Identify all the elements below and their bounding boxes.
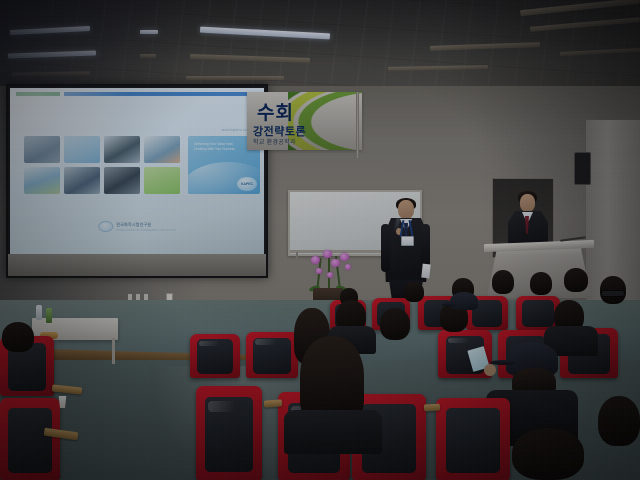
screen-surface: www.kaperc.com Delivering Your Value Now…: [10, 88, 264, 254]
orchid-bloom-2: [316, 268, 322, 274]
seat-pad: [522, 300, 554, 327]
slide-footer-name: 한국화학시험연구원: [116, 222, 175, 228]
thumb-machinery: [24, 136, 60, 163]
attendee-shoulders: [284, 410, 382, 454]
ceiling: [0, 0, 640, 92]
thumb-drill: [104, 136, 140, 163]
slide-top-bars: [16, 92, 262, 96]
ceiling-shadow-left: [0, 0, 240, 92]
green-bottle: [46, 308, 52, 323]
presenter2-head: [520, 194, 535, 212]
attendee-head: [530, 272, 552, 295]
ceiling-shadow-right: [380, 0, 640, 92]
seat-pad: [446, 408, 499, 474]
seat-highlight: [448, 338, 470, 344]
orchid-bloom-5: [327, 272, 333, 278]
slide-blue-bar: [64, 92, 262, 96]
auditorium-photo: www.kaperc.com Delivering Your Value Now…: [0, 0, 640, 480]
slide-green-bar: [16, 92, 60, 96]
thumb-bearing: [24, 167, 60, 194]
black-cap-icon: [450, 292, 478, 310]
attendee-head: [512, 428, 584, 480]
event-banner: 수회 강전략토론 학교 환경공학과: [247, 92, 362, 150]
screen-bottom-bar: [8, 254, 266, 276]
orchid-bloom-1: [311, 256, 320, 264]
thumb-hand-globe: [144, 136, 180, 163]
seat-highlight: [255, 339, 276, 345]
table-row[interactable]: [436, 398, 510, 480]
slide-footer-text: 한국화학시험연구원 KOREA TESTING & RESEARCH INSTI…: [116, 222, 175, 232]
whiteboard-leg-left: [296, 252, 298, 278]
thumb-circuit: [64, 167, 100, 194]
attendee-head: [598, 396, 640, 446]
reader-hand: [484, 364, 496, 376]
slide-panel-badge: KAPEC: [237, 177, 257, 191]
presenter1-name-badge: [401, 236, 414, 246]
thumb-blue-blank: [64, 136, 100, 163]
banner-shadow: [247, 92, 362, 150]
slide-footer: 한국화학시험연구원 KOREA TESTING & RESEARCH INSTI…: [98, 221, 175, 232]
attendee-head: [2, 322, 34, 352]
attendee-head: [380, 308, 410, 340]
orchid-bloom-6: [340, 253, 349, 261]
cap-brim: [442, 302, 456, 307]
orchid-bloom-4: [331, 259, 340, 267]
presenter1-arm-left: [381, 224, 390, 272]
table-row[interactable]: [0, 398, 60, 480]
slide-footer-sub: KOREA TESTING & RESEARCH INSTITUTE: [116, 229, 175, 232]
table-row[interactable]: [190, 334, 240, 378]
seat-armrest-right: [424, 404, 440, 412]
table-row[interactable]: [196, 386, 262, 480]
presenter1-head: [398, 200, 414, 219]
slide-url-text: www.kaperc.com: [222, 128, 250, 132]
thumb-green-blank: [144, 167, 180, 194]
company-logo-icon: [98, 221, 113, 232]
attendee-head: [492, 270, 514, 294]
seat-armrest-mid: [264, 399, 282, 407]
cap-brim: [490, 360, 516, 365]
thumb-keyboard: [104, 167, 140, 194]
presenter1-paper: [421, 264, 430, 279]
seat-highlight: [208, 401, 234, 412]
attendee-head: [404, 282, 424, 302]
water-bottle: [36, 305, 42, 320]
seat-pad: [8, 408, 51, 474]
banner-pole: [356, 92, 359, 158]
projection-screen: www.kaperc.com Delivering Your Value Now…: [6, 84, 268, 278]
orchid-bloom-3: [323, 250, 332, 258]
orchid-bloom-7: [345, 264, 351, 270]
glasses-icon: [601, 290, 625, 297]
seat-highlight: [199, 341, 219, 346]
attendee-head: [564, 268, 588, 292]
slide-thumbnail-grid: [24, 136, 184, 194]
side-table-leg-right: [112, 338, 115, 364]
table-row[interactable]: [246, 332, 298, 378]
